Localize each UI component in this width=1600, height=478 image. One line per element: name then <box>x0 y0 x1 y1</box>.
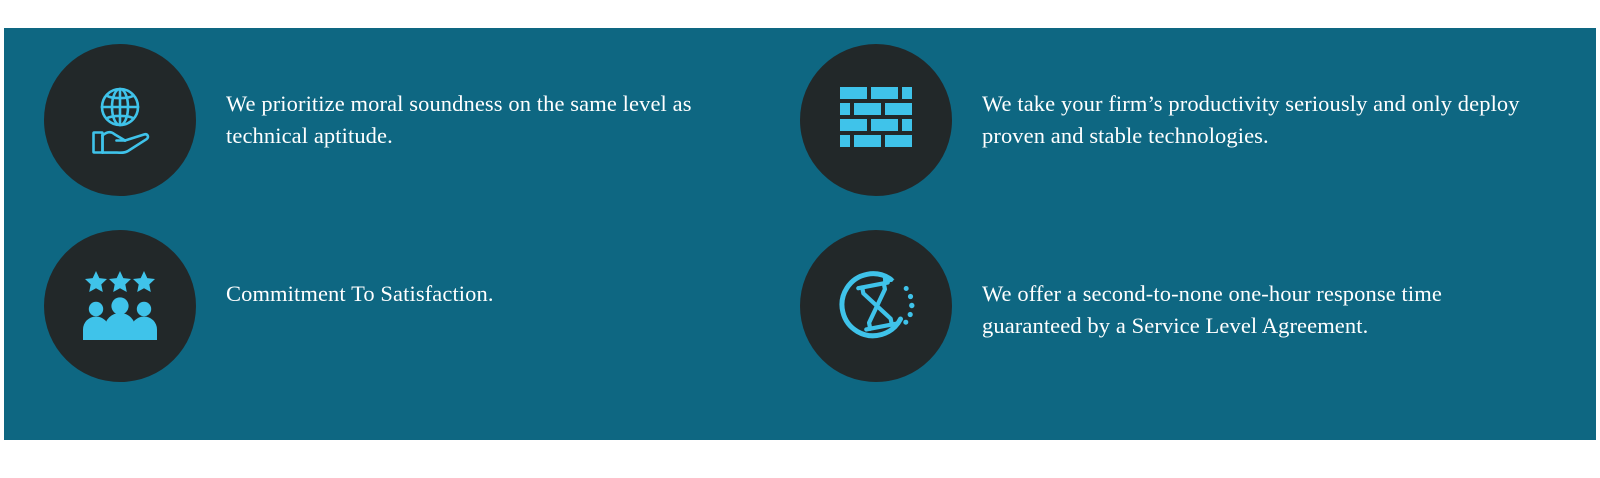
stars-and-people-icon <box>44 230 196 382</box>
feature-item-ethics: We prioritize moral soundness on the sam… <box>44 42 794 228</box>
feature-item-response-time: We offer a second-to-none one-hour respo… <box>794 228 1596 414</box>
globe-in-hand-icon <box>44 44 196 196</box>
feature-band: We prioritize moral soundness on the sam… <box>4 28 1596 440</box>
feature-text: We offer a second-to-none one-hour respo… <box>982 228 1542 342</box>
feature-item-satisfaction: Commitment To Satisfaction. <box>44 228 794 414</box>
feature-grid: We prioritize moral soundness on the sam… <box>4 28 1596 440</box>
hourglass-refresh-icon <box>800 230 952 382</box>
feature-text: Commitment To Satisfaction. <box>226 228 494 310</box>
feature-text: We prioritize moral soundness on the sam… <box>226 42 766 152</box>
page-root: We prioritize moral soundness on the sam… <box>0 0 1600 478</box>
feature-item-stability: We take your firm’s productivity serious… <box>794 42 1596 228</box>
feature-text: We take your firm’s productivity serious… <box>982 42 1542 152</box>
brick-wall-icon <box>800 44 952 196</box>
